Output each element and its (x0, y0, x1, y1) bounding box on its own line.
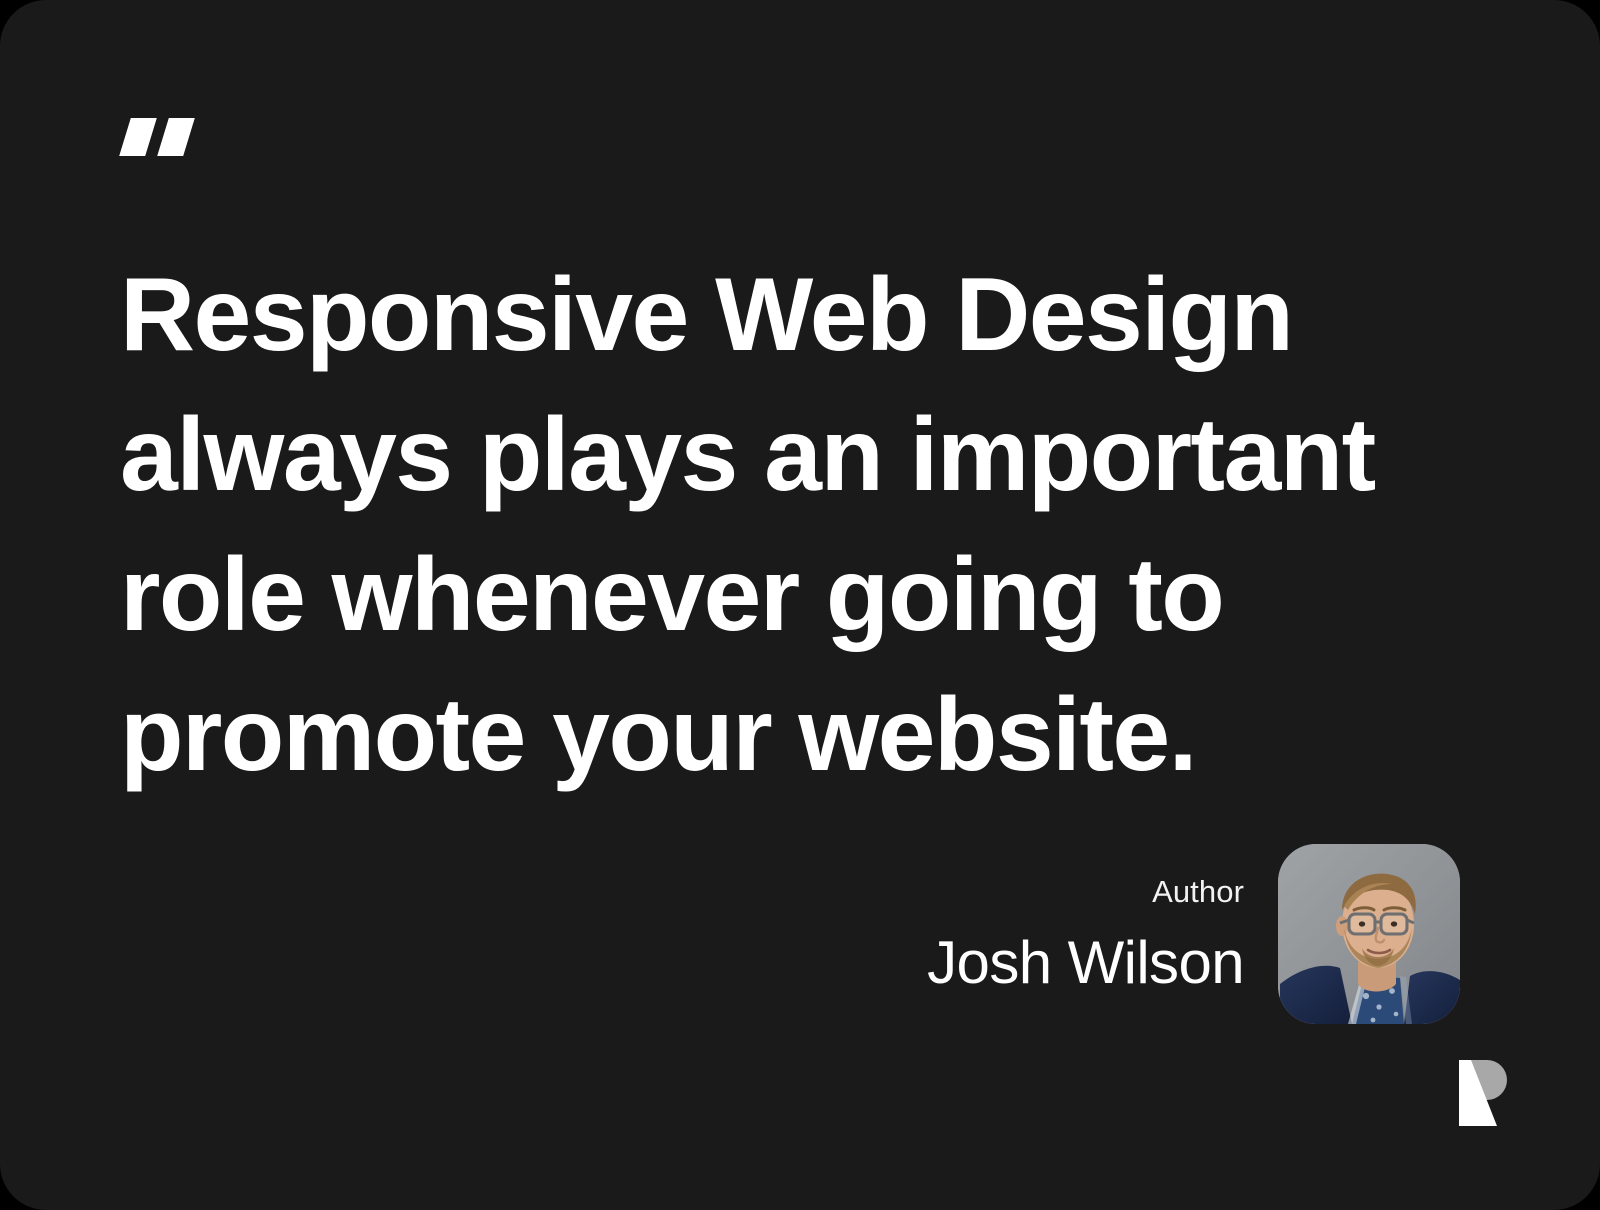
author-block: Author Josh Wilson (700, 843, 1460, 1025)
quotation-mark-icon (117, 118, 207, 158)
brand-logo-icon (1449, 1058, 1511, 1128)
testimonial-card: Responsive Web Design always plays an im… (0, 0, 1600, 1210)
author-name: Josh Wilson (927, 930, 1244, 996)
author-meta: Author Josh Wilson (927, 872, 1244, 996)
quote-text: Responsive Web Design always plays an im… (120, 245, 1420, 805)
quotation-mark-bar-left (119, 118, 157, 156)
quotation-mark-bar-right (157, 118, 195, 156)
author-role-label: Author (1152, 872, 1244, 912)
avatar (1278, 844, 1460, 1024)
